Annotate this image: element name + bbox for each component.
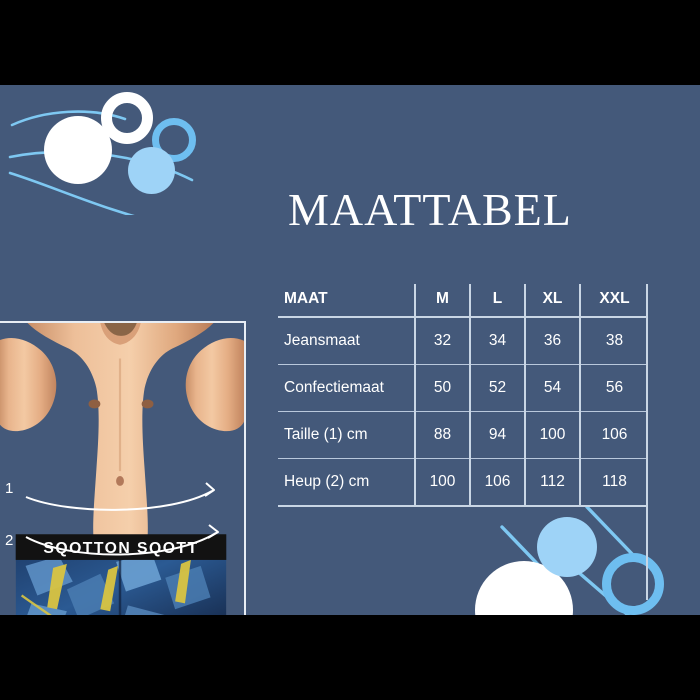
cell-taille-l: 94 (470, 412, 525, 459)
table-header-row: MAAT M L XL XXL (278, 284, 648, 317)
column-header-maat: MAAT (278, 284, 415, 317)
cell-heup-xl: 112 (525, 459, 580, 507)
row-label-confectiemaat: Confectiemaat (278, 365, 415, 412)
streak-line-2 (587, 507, 635, 557)
streak-line-1 (502, 527, 550, 577)
column-header-m: M (415, 284, 470, 317)
table-header: MAAT M L XL XXL (278, 284, 648, 317)
slide-canvas: MAATTABEL (0, 85, 700, 615)
cell-jeansmaat-xl: 36 (525, 317, 580, 365)
size-chart-table: MAAT M L XL XXL Jeansmaat 32 34 36 38 Co… (278, 284, 648, 507)
decoration-bottom-right (470, 505, 700, 615)
navel (116, 476, 124, 486)
cell-jeansmaat-m: 32 (415, 317, 470, 365)
nipple-left (89, 400, 101, 409)
letterbox-bar-top (0, 0, 700, 85)
cell-taille-m: 88 (415, 412, 470, 459)
cell-heup-m: 100 (415, 459, 470, 507)
row-label-heup: Heup (2) cm (278, 459, 415, 507)
column-header-xxl: XXL (580, 284, 648, 317)
model-photo: SQOTTON SQOTT (0, 321, 246, 615)
table-right-border (646, 284, 648, 600)
swoosh-line-3 (10, 173, 170, 215)
cell-heup-xxl: 118 (580, 459, 648, 507)
letterbox-bar-bottom (0, 615, 700, 700)
cell-taille-xl: 100 (525, 412, 580, 459)
cell-confectiemaat-xxl: 56 (580, 365, 648, 412)
slide-stage: MAATTABEL (0, 0, 700, 700)
cell-confectiemaat-l: 52 (470, 365, 525, 412)
waistband-brand-text: SQOTTON SQOTT (43, 540, 198, 557)
column-header-xl: XL (525, 284, 580, 317)
table-row: Jeansmaat 32 34 36 38 (278, 317, 648, 365)
cell-jeansmaat-l: 34 (470, 317, 525, 365)
streak-line-4 (552, 607, 570, 615)
nipple-right (142, 400, 154, 409)
cell-heup-l: 106 (470, 459, 525, 507)
table-row: Taille (1) cm 88 94 100 106 (278, 412, 648, 459)
row-label-jeansmaat: Jeansmaat (278, 317, 415, 365)
streak-line-3 (570, 565, 628, 615)
column-header-l: L (470, 284, 525, 317)
table-body: Jeansmaat 32 34 36 38 Confectiemaat 50 5… (278, 317, 648, 506)
swoosh-line-2 (10, 152, 192, 180)
cell-jeansmaat-xxl: 38 (580, 317, 648, 365)
page-title: MAATTABEL (288, 183, 688, 236)
measure-label-1: 1 (5, 480, 13, 497)
cell-confectiemaat-xl: 54 (525, 365, 580, 412)
table-row: Heup (2) cm 100 106 112 118 (278, 459, 648, 507)
table-row: Confectiemaat 50 52 54 56 (278, 365, 648, 412)
cell-taille-xxl: 106 (580, 412, 648, 459)
cell-confectiemaat-m: 50 (415, 365, 470, 412)
row-label-taille: Taille (1) cm (278, 412, 415, 459)
swoosh-line-1 (12, 112, 125, 125)
measure-label-2: 2 (5, 532, 13, 549)
